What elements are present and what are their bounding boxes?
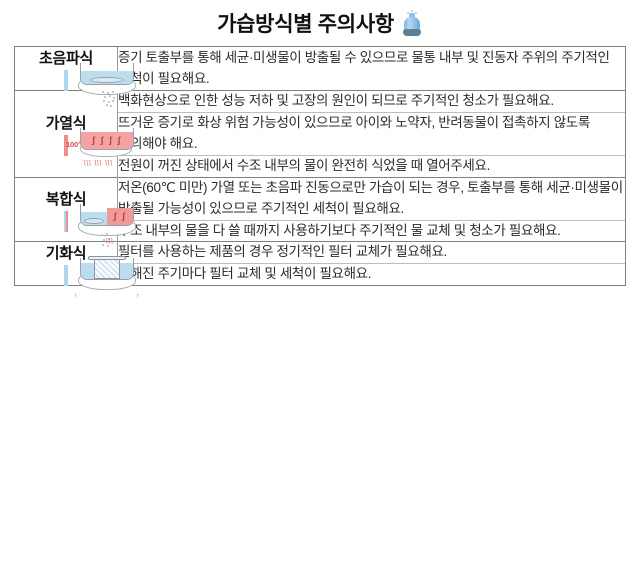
evaporative-humidifier-icon: ↓ ↑ ↓ ↑ ↑ <box>64 265 68 286</box>
note-cell: 필터를 사용하는 제품의 경우 정기적인 필터 교체가 필요해요. <box>118 242 626 264</box>
combined-humidifier-icon: ʃ ʃ ʅʅʅ <box>64 211 68 232</box>
note-cell: 저온(60℃ 미만) 가열 또는 초음파 진동으로만 가습이 되는 경우, 토출… <box>118 177 626 220</box>
note-cell: 증기 토출부를 통해 세균·미생물이 방출될 수 있으므로 물통 내부 및 진동… <box>118 47 626 91</box>
note-cell: 정해진 주기마다 필터 교체 및 세척이 필요해요. <box>118 264 626 286</box>
table-row: 복합식 <box>15 177 625 220</box>
page-title-text: 가습방식별 주의사항 <box>217 8 394 38</box>
precautions-table: 초음파식 증기 토출 <box>14 46 626 286</box>
note-cell: 전원이 꺼진 상태에서 수조 내부의 물이 완전히 식었을 때 열어주세요. <box>118 155 626 177</box>
category-cell-combined: 복합식 <box>15 177 118 242</box>
page-title: 가습방식별 주의사항 <box>0 0 640 46</box>
humidifier-emoji <box>401 10 423 36</box>
note-cell: 뜨거운 증기로 화상 위험 가능성이 있으므로 아이와 노약자, 반려동물이 접… <box>118 112 626 155</box>
category-cell-ultrasonic: 초음파식 <box>15 47 118 91</box>
table-row: 초음파식 증기 토출 <box>15 47 625 91</box>
ultrasonic-humidifier-icon <box>64 70 68 91</box>
infographic-page: 가습방식별 주의사항 초음파식 <box>0 0 640 566</box>
heating-humidifier-icon: 100℃ ʅʅʅ ʅʅʅ ʅʅʅ ʃ ʃ ʃ ʃ <box>64 135 68 156</box>
note-cell: 수조 내부의 물을 다 쓸 때까지 사용하기보다 주기적인 물 교체 및 청소가… <box>118 220 626 242</box>
note-cell: 백화현상으로 인한 성능 저하 및 고장의 원인이 되므로 주기적인 청소가 필… <box>118 91 626 113</box>
